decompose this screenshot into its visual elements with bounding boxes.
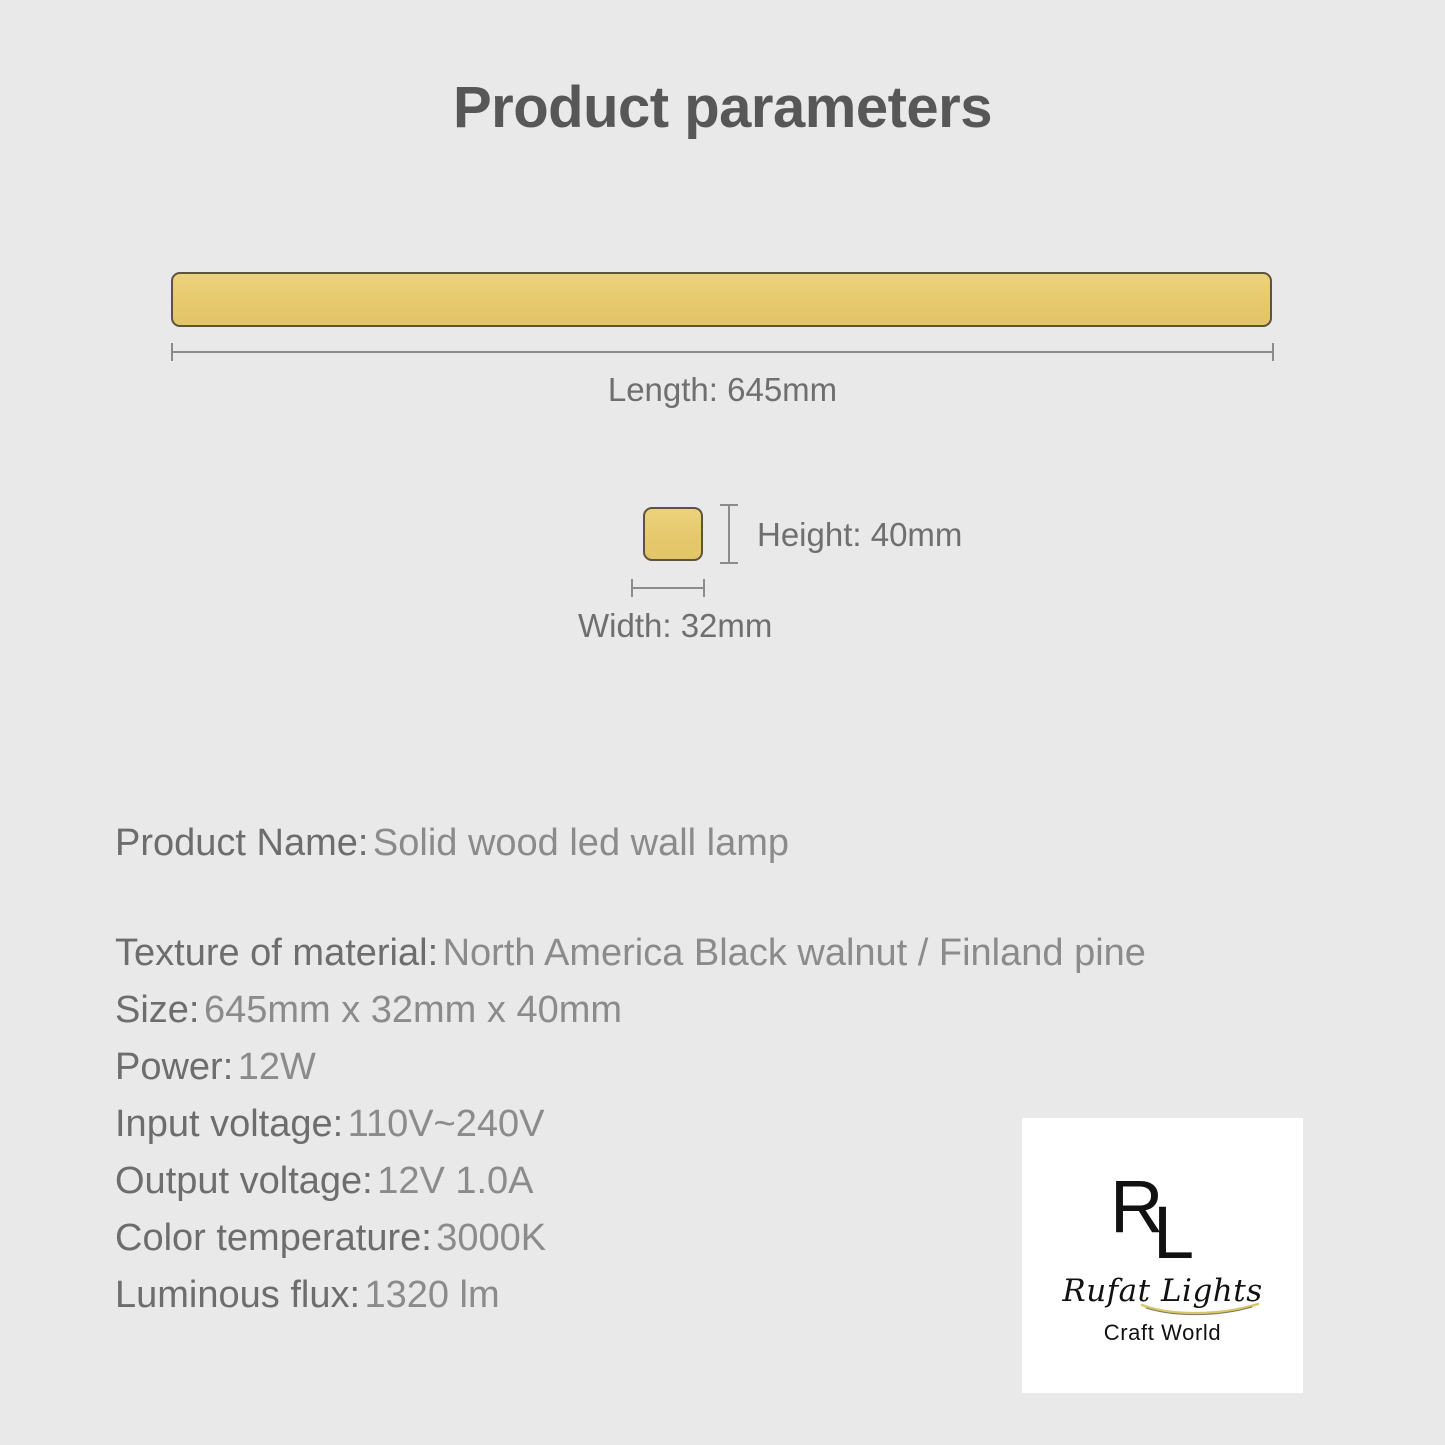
logo-swoosh-icon bbox=[1140, 1303, 1260, 1317]
spec-value: North America Black walnut / Finland pin… bbox=[443, 932, 1146, 974]
spec-label: Product Name: bbox=[115, 822, 368, 864]
brand-logo: R L Rufat Lights Craft World bbox=[1022, 1118, 1303, 1393]
spec-row-product-name: Product Name: Solid wood led wall lamp bbox=[115, 824, 1345, 862]
spec-label: Input voltage: bbox=[115, 1103, 343, 1145]
width-label: Width: 32mm bbox=[578, 607, 772, 645]
product-parameters-infographic: Product parameters Length: 645mm Height:… bbox=[0, 0, 1445, 1445]
spec-label: Color temperature: bbox=[115, 1217, 432, 1259]
width-dimension-line bbox=[631, 579, 705, 597]
spec-label: Luminous flux: bbox=[115, 1274, 360, 1316]
spec-row-size: Size: 645mm x 32mm x 40mm bbox=[115, 991, 1345, 1029]
spec-value: 1320 lm bbox=[364, 1274, 499, 1316]
spec-value: 645mm x 32mm x 40mm bbox=[204, 989, 622, 1031]
spec-row-power: Power: 12W bbox=[115, 1048, 1345, 1086]
logo-tagline: Craft World bbox=[1022, 1320, 1303, 1346]
spec-label: Texture of material: bbox=[115, 932, 438, 974]
lamp-cross-section bbox=[643, 507, 703, 561]
spec-value: 12W bbox=[238, 1046, 316, 1088]
height-rule bbox=[728, 504, 730, 564]
length-rule bbox=[171, 351, 1274, 353]
spec-value: Solid wood led wall lamp bbox=[373, 822, 789, 864]
height-dimension-line bbox=[720, 504, 738, 564]
lamp-bar-front-view bbox=[171, 272, 1272, 327]
width-rule bbox=[631, 587, 705, 589]
spec-value: 3000K bbox=[436, 1217, 546, 1259]
page-title: Product parameters bbox=[0, 74, 1445, 141]
logo-monogram: R L bbox=[1022, 1170, 1303, 1266]
spec-value: 12V 1.0A bbox=[377, 1160, 533, 1202]
spec-row-texture-of-material: Texture of material: North America Black… bbox=[115, 934, 1345, 972]
logo-monogram-l: L bbox=[1153, 1196, 1194, 1270]
length-dimension-line bbox=[171, 343, 1274, 361]
length-tick-right bbox=[1272, 343, 1274, 361]
spec-label: Output voltage: bbox=[115, 1160, 373, 1202]
width-tick-right bbox=[703, 579, 705, 597]
length-label: Length: 645mm bbox=[0, 371, 1445, 409]
spec-value: 110V~240V bbox=[348, 1103, 545, 1145]
spec-label: Power: bbox=[115, 1046, 233, 1088]
spec-label: Size: bbox=[115, 989, 199, 1031]
height-label: Height: 40mm bbox=[757, 516, 962, 554]
height-tick-bottom bbox=[720, 562, 738, 564]
